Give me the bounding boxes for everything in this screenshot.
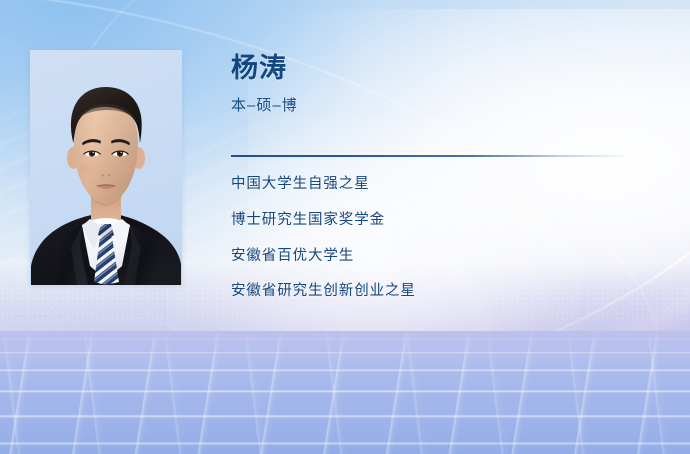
award-item: 博士研究生国家奖学金 [231,210,651,230]
awards-list: 中国大学生自强之星 博士研究生国家奖学金 安徽省百优大学生 安徽省研究生创新创业… [231,174,651,302]
award-item: 中国大学生自强之星 [231,174,651,194]
background-perspective-floor [0,331,690,454]
person-name: 杨涛 [231,52,661,84]
floor-horizon-fade [0,331,690,454]
degree-path-label: 本–硕–博 [231,96,661,116]
portrait-photo [30,50,182,285]
profile-info: 杨涛 本–硕–博 [231,52,661,116]
profile-poster: 杨涛 本–硕–博 中国大学生自强之星 博士研究生国家奖学金 安徽省百优大学生 安… [0,0,690,454]
award-item: 安徽省百优大学生 [231,246,651,266]
section-divider [231,155,631,157]
award-item: 安徽省研究生创新创业之星 [231,281,651,301]
portrait-photo-image [30,50,182,285]
